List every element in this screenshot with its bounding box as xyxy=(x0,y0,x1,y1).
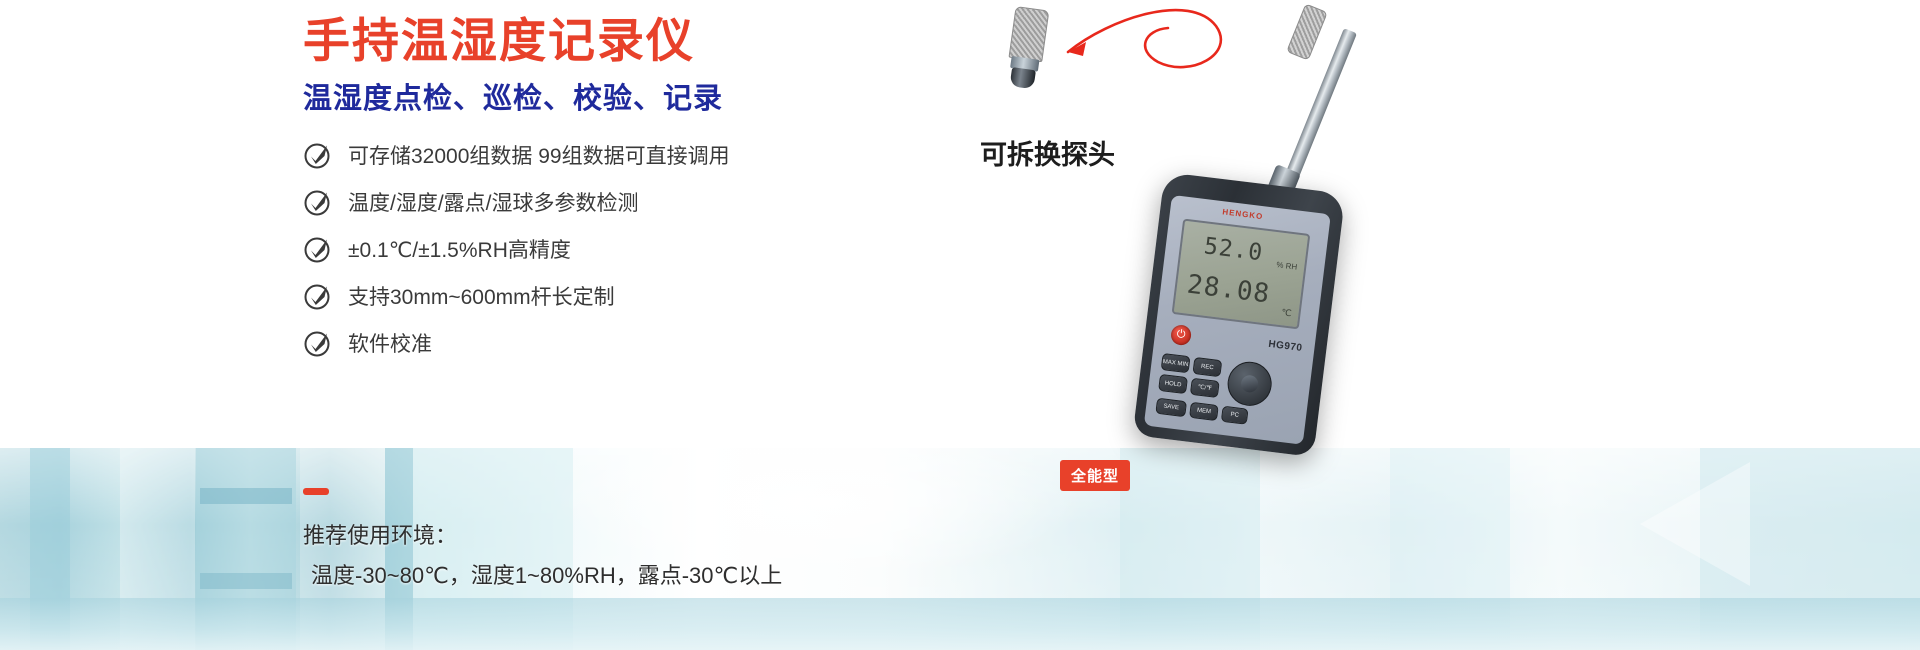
meter-faceplate: HENGKO 52.0 % RH 28.08 ℃ ⏻ HG970 MAX MIN… xyxy=(1144,195,1331,445)
power-icon: ⏻ xyxy=(1176,329,1186,341)
key-maxmin[interactable]: MAX MIN xyxy=(1161,353,1191,373)
key-unit[interactable]: ℃/℉ xyxy=(1190,378,1220,398)
feature-text: 温度/湿度/露点/湿球多参数检测 xyxy=(348,187,639,217)
list-item: 可存储32000组数据 99组数据可直接调用 xyxy=(303,131,923,178)
humidity-reading: 52.0 xyxy=(1202,233,1264,266)
key-rec[interactable]: REC xyxy=(1192,357,1222,377)
check-circle-icon xyxy=(303,234,333,264)
recommendation-detail: 温度-30~80℃，湿度1~80%RH，露点-30℃以上 xyxy=(311,558,782,590)
check-circle-icon xyxy=(303,140,333,170)
red-dash-divider xyxy=(303,488,329,495)
check-circle-icon xyxy=(303,328,333,358)
bg-shape xyxy=(1640,462,1750,586)
feature-text: 软件校准 xyxy=(348,328,432,358)
temperature-reading: 28.08 xyxy=(1185,270,1271,310)
key-mem[interactable]: MEM xyxy=(1189,402,1219,421)
brand-logo: HENGKO xyxy=(1222,207,1264,221)
dpad-center-button[interactable] xyxy=(1240,374,1259,393)
page-title: 手持温湿度记录仪 xyxy=(303,12,695,70)
key-pc[interactable]: PC xyxy=(1221,406,1249,425)
power-button[interactable]: ⏻ xyxy=(1170,324,1192,346)
list-item: 支持30mm~600mm杆长定制 xyxy=(303,272,923,319)
model-label: HG970 xyxy=(1268,339,1303,354)
feature-text: 可存储32000组数据 99组数据可直接调用 xyxy=(348,140,730,170)
list-item: ±0.1℃/±1.5%RH高精度 xyxy=(303,225,923,272)
device-image: HENGKO 52.0 % RH 28.08 ℃ ⏻ HG970 MAX MIN… xyxy=(1020,0,1440,650)
recommendation-title: 推荐使用环境： xyxy=(303,518,457,550)
probe-sensor-head xyxy=(1286,3,1328,60)
keypad: MAX MIN REC HOLD ℃/℉ SAVE MEM PC xyxy=(1152,353,1303,438)
meter-housing: HENGKO 52.0 % RH 28.08 ℃ ⏻ HG970 MAX MIN… xyxy=(1133,172,1346,457)
bg-shape xyxy=(200,488,292,504)
background-photo-band xyxy=(0,448,1920,650)
check-circle-icon xyxy=(303,187,333,217)
status-badge: 全能型 xyxy=(1060,460,1130,491)
navigation-dpad[interactable] xyxy=(1225,359,1274,408)
bg-floor xyxy=(0,598,1920,650)
feature-text: 支持30mm~600mm杆长定制 xyxy=(348,281,615,311)
key-hold[interactable]: HOLD xyxy=(1158,374,1188,394)
key-save[interactable]: SAVE xyxy=(1155,398,1187,418)
humidity-unit: % RH xyxy=(1276,260,1298,271)
feature-text: ±0.1℃/±1.5%RH高精度 xyxy=(348,234,571,264)
temperature-unit: ℃ xyxy=(1281,307,1292,319)
product-banner: 手持温湿度记录仪 温湿度点检、巡检、校验、记录 可存储32000组数据 99组数… xyxy=(0,0,1920,650)
bg-glow xyxy=(560,428,1080,578)
page-subtitle: 温湿度点检、巡检、校验、记录 xyxy=(303,80,723,118)
feature-list: 可存储32000组数据 99组数据可直接调用 温度/湿度/露点/湿球多参数检测 … xyxy=(303,131,923,366)
list-item: 温度/湿度/露点/湿球多参数检测 xyxy=(303,178,923,225)
check-circle-icon xyxy=(303,281,333,311)
list-item: 软件校准 xyxy=(303,319,923,366)
bg-shape xyxy=(200,573,292,589)
lcd-display: 52.0 % RH 28.08 ℃ xyxy=(1172,218,1311,329)
